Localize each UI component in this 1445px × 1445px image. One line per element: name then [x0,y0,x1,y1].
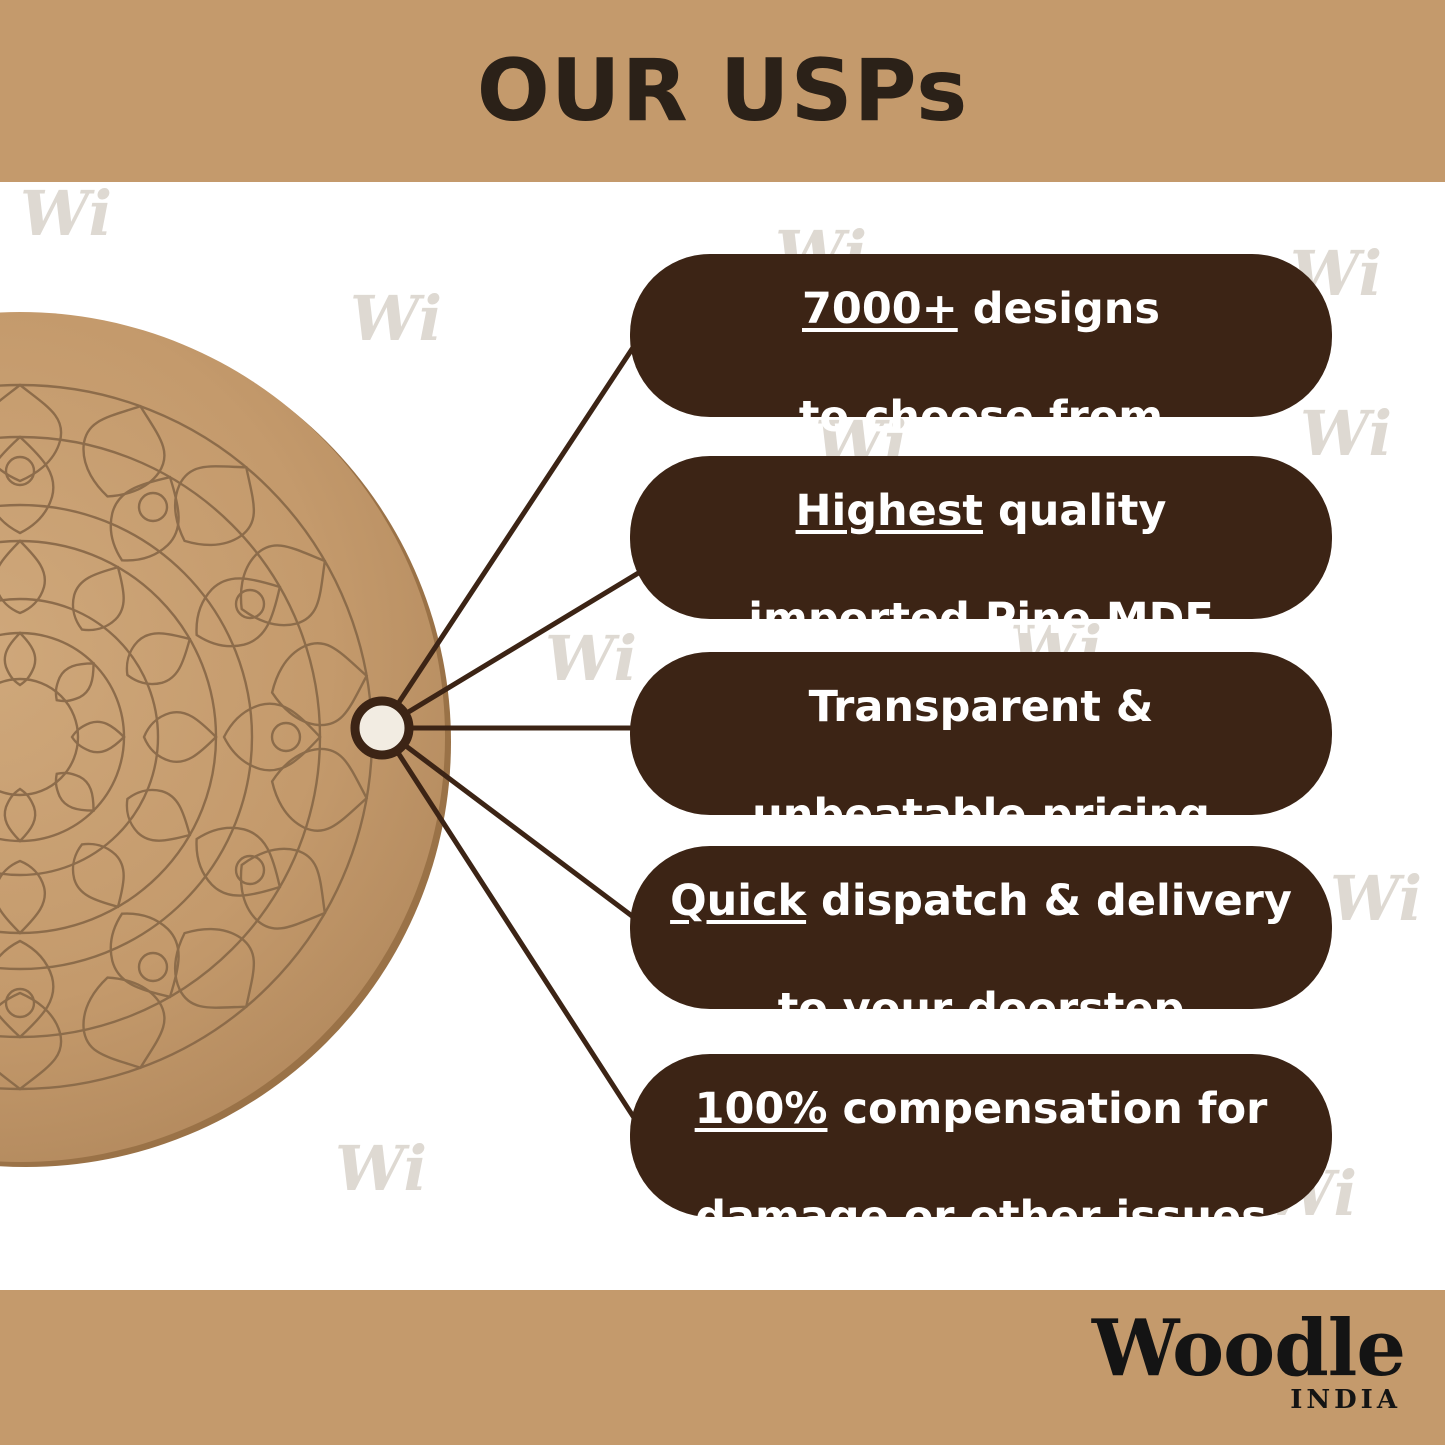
usp-pricing-line1: Transparent & [809,682,1154,732]
footer-banner: Woodle INDIA [0,1290,1445,1445]
usp-pill-pricing[interactable]: Transparent & unbeatable pricing [630,652,1332,815]
usp-pill-quality[interactable]: Highest quality imported Pine MDF [630,456,1332,619]
usp-pill-pricing-text: Transparent & unbeatable pricing [752,626,1210,842]
usp-pill-designs[interactable]: 7000+ designs to choose from [630,254,1332,417]
usp-quality-highlight: Highest [796,486,983,536]
usp-pill-compensation-text: 100% compensation for damage or other is… [695,1028,1268,1244]
watermark-tile: Wi [1330,862,1422,935]
usp-pill-compensation[interactable]: 100% compensation for damage or other is… [630,1054,1332,1217]
product-image [0,292,460,1182]
usp-compensation-line2: damage or other issues [695,1192,1267,1242]
usp-compensation-highlight: 100% [695,1084,828,1134]
page-title: OUR USPs [477,41,969,141]
brand-logo: Woodle INDIA [1092,1308,1405,1414]
usp-designs-line1-post: designs [958,284,1160,334]
usp-pill-quality-text: Highest quality imported Pine MDF [748,430,1213,646]
usp-quality-line1-post: quality [983,486,1166,536]
watermark-tile: Wi [545,622,637,695]
usp-dispatch-line2: to your doorstep [778,984,1185,1034]
usp-compensation-line1-post: compensation for [827,1084,1267,1134]
mandala-board-svg [0,292,460,1182]
usp-designs-highlight: 7000+ [802,284,958,334]
usp-dispatch-highlight: Quick [670,876,806,926]
usp-pill-designs-text: 7000+ designs to choose from [799,228,1163,444]
infographic-page: OUR USPs Wi Wi Wi Wi Wi Wi Wi Wi Wi Wi W… [0,0,1445,1445]
brand-name: Woodle [1092,1308,1405,1390]
usp-dispatch-line1-post: dispatch & delivery [806,876,1292,926]
usp-pill-dispatch[interactable]: Quick dispatch & delivery to your doorst… [630,846,1332,1009]
watermark-tile: Wi [20,182,112,250]
usp-pill-dispatch-text: Quick dispatch & delivery to your doorst… [670,820,1292,1036]
watermark-tile: Wi [1300,397,1392,470]
header-banner: OUR USPs [0,0,1445,182]
diagram-canvas: Wi Wi Wi Wi Wi Wi Wi Wi Wi Wi Wi [0,182,1445,1290]
